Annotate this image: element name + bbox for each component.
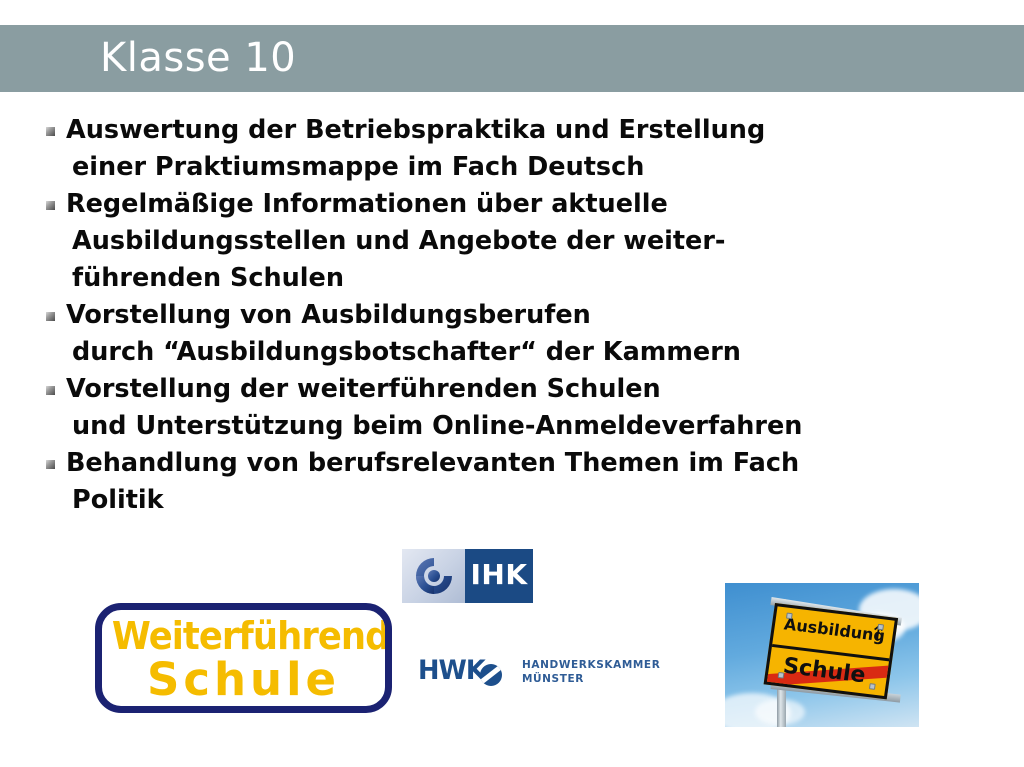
- list-item: Auswertung der Betriebspraktika und Erst…: [40, 112, 990, 186]
- title-band: Klasse 10: [0, 25, 1024, 92]
- sign-board: Ausbildung ↑ Schule: [764, 603, 899, 699]
- list-item-line: einer Praktiumsmappe im Fach Deutsch: [72, 149, 990, 186]
- square-bullet-icon: [46, 386, 55, 395]
- ihk-wordmark: IHK: [470, 561, 527, 591]
- list-item-line: Behandlung von berufsrelevanten Themen i…: [66, 445, 990, 482]
- list-item-text: Behandlung von berufsrelevanten Themen i…: [66, 445, 990, 519]
- sign-bolt: [786, 613, 793, 620]
- hwk-circle-slash-icon: [480, 664, 502, 686]
- list-item: Vorstellung der weiterführenden Schulen …: [40, 371, 990, 445]
- list-item-text: Vorstellung der weiterführenden Schulen …: [66, 371, 990, 445]
- list-item-line: Vorstellung der weiterführenden Schulen: [66, 371, 990, 408]
- hwk-subtitle-line2: MÜNSTER: [522, 672, 660, 686]
- ihk-word-panel: IHK: [465, 549, 533, 603]
- logo-ihk: IHK: [402, 549, 533, 603]
- hwk-subtitle-line1: HANDWERKSKAMMER: [522, 658, 660, 672]
- logo-hwk: HWK HANDWERKSKAMMER MÜNSTER: [418, 656, 658, 696]
- list-item-text: Auswertung der Betriebspraktika und Erst…: [66, 112, 990, 186]
- hwk-wordmark: HWK: [418, 656, 485, 686]
- list-item: Vorstellung von Ausbildungsberufen durch…: [40, 297, 990, 371]
- sign-bottom-text: Schule: [781, 652, 867, 692]
- ihk-mark-panel: [402, 549, 465, 603]
- road-sign-photo: Ausbildung ↑ Schule: [725, 583, 919, 727]
- list-item: Behandlung von berufsrelevanten Themen i…: [40, 445, 990, 519]
- sign-bolt: [877, 624, 884, 631]
- list-item-line: Auswertung der Betriebspraktika und Erst…: [66, 112, 990, 149]
- sign-bolt: [778, 672, 785, 679]
- logo-weiterfuehrende-line2: Schule: [102, 654, 385, 706]
- list-item: Regelmäßige Informationen über aktuelle …: [40, 186, 990, 297]
- page-title: Klasse 10: [100, 38, 296, 78]
- list-item-line: und Unterstützung beim Online-Anmeldever…: [72, 408, 990, 445]
- bullet-list: Auswertung der Betriebspraktika und Erst…: [40, 112, 990, 519]
- ihk-spiral-icon: [413, 555, 455, 597]
- list-item-text: Regelmäßige Informationen über aktuelle …: [66, 186, 990, 297]
- list-item-line: Ausbildungsstellen und Angebote der weit…: [72, 223, 990, 260]
- hwk-subtitle: HANDWERKSKAMMER MÜNSTER: [522, 658, 660, 686]
- list-item-line: Politik: [72, 482, 990, 519]
- square-bullet-icon: [46, 312, 55, 321]
- square-bullet-icon: [46, 127, 55, 136]
- square-bullet-icon: [46, 201, 55, 210]
- list-item-line: führenden Schulen: [72, 260, 990, 297]
- square-bullet-icon: [46, 460, 55, 469]
- list-item-line: Vorstellung von Ausbildungsberufen: [66, 297, 990, 334]
- list-item-line: durch “Ausbildungsbotschafter“ der Kamme…: [72, 334, 990, 371]
- logo-weiterfuehrende-line1: Weiterführende: [112, 614, 375, 658]
- list-item-line: Regelmäßige Informationen über aktuelle: [66, 186, 990, 223]
- sign-bolt: [869, 683, 876, 690]
- list-item-text: Vorstellung von Ausbildungsberufen durch…: [66, 297, 990, 371]
- logo-weiterfuehrende-schule: Weiterführende Schule: [95, 603, 392, 713]
